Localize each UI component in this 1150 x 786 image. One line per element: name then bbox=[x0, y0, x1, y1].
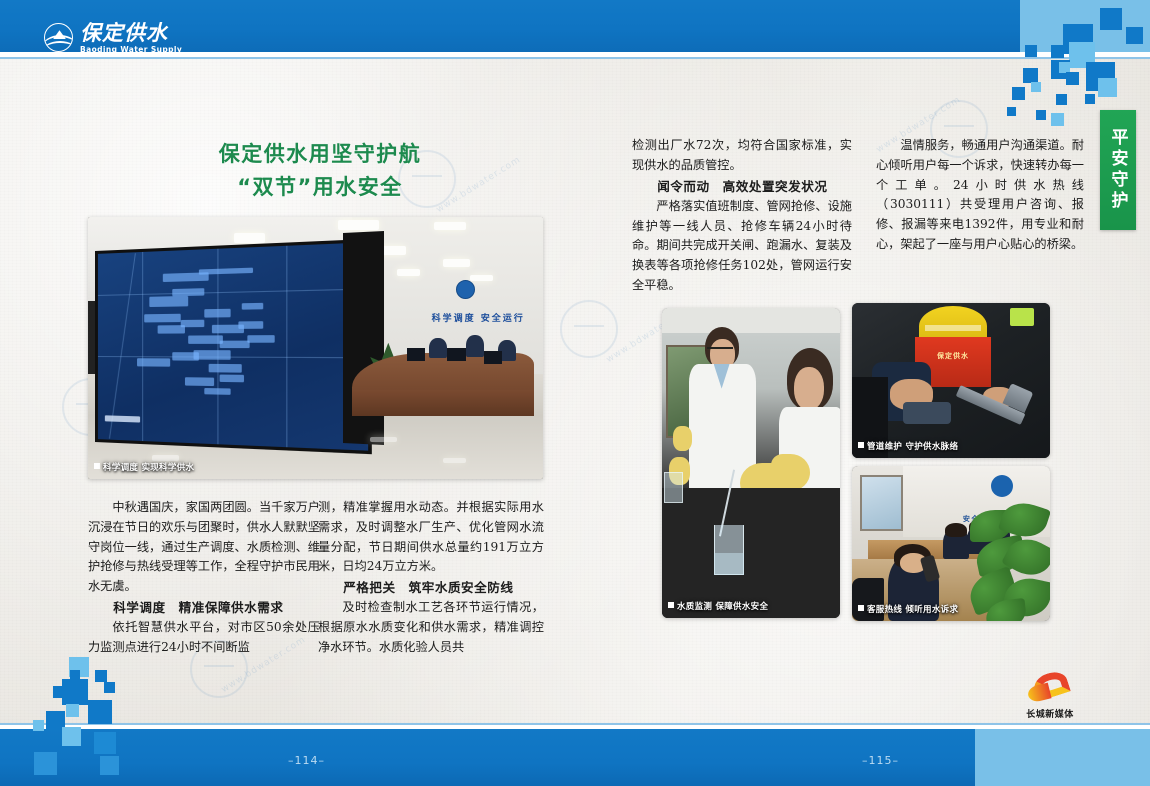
article-title: 保定供水用坚守护航 “双节”用水安全 bbox=[85, 138, 555, 203]
body-column-4: 温情服务，畅通用户沟通渠道。耐心倾听用户每一个诉求，快速转办每一个工单。24小时… bbox=[876, 136, 1084, 255]
decor-square bbox=[104, 682, 115, 693]
brand-name-en: Baoding Water Supply bbox=[80, 46, 182, 54]
footer-band-accent bbox=[975, 729, 1150, 786]
decor-square bbox=[1126, 27, 1143, 44]
paragraph: 测，精准掌握用水动态。并根据实际用水需求，及时调整水厂生产、优化管网水流量分配，… bbox=[318, 498, 544, 577]
paragraph: 严格落实值班制度、管网抢修、设施维护等一线人员、抢修车辆24小时待命。期间共完成… bbox=[632, 197, 852, 296]
decor-square bbox=[100, 756, 119, 775]
media-partner-name: 长城新媒体 bbox=[1026, 707, 1074, 720]
decor-square bbox=[1051, 45, 1064, 58]
decor-square bbox=[70, 670, 80, 680]
decor-square bbox=[66, 704, 79, 717]
decor-square bbox=[1066, 72, 1079, 85]
article-title-line1: 保定供水用坚守护航 bbox=[85, 138, 555, 171]
paragraph: 中秋遇国庆，家国两团圆。当千家万户沉浸在节日的欢乐与团聚时，供水人默默坚守岗位一… bbox=[88, 498, 320, 597]
decor-square bbox=[1051, 113, 1064, 126]
decor-square bbox=[1007, 107, 1016, 116]
photo-control-room: 科学调度 安全运行 科学调度 实现科学供水 bbox=[88, 217, 543, 479]
decor-square bbox=[1031, 82, 1041, 92]
decor-square bbox=[88, 700, 112, 724]
decor-square bbox=[95, 670, 107, 682]
photo-wall-text: 科学调度 安全运行 bbox=[432, 311, 525, 324]
decor-square bbox=[1023, 68, 1038, 83]
body-column-1: 中秋遇国庆，家国两团圆。当千家万户沉浸在节日的欢乐与团聚时，供水人默默坚守岗位一… bbox=[88, 498, 320, 658]
decor-square bbox=[1098, 78, 1117, 97]
footer-rule bbox=[0, 725, 1150, 729]
photo-water-quality-lab: 水质监测 保障供水安全 bbox=[662, 308, 840, 618]
footer-rule-secondary bbox=[0, 723, 1150, 725]
great-wall-swirl-icon bbox=[1024, 671, 1076, 705]
photo-pipe-maintenance: 保定供水 管道维护 守护供水脉络 bbox=[852, 303, 1050, 458]
decor-square bbox=[1100, 8, 1122, 30]
paragraph: 及时检查制水工艺各环节运行情况，根据原水水质变化和供水需求，精准调控净水环节。水… bbox=[318, 598, 544, 657]
paragraph: 依托智慧供水平台，对市区50余处压力监测点进行24小时不间断监 bbox=[88, 618, 320, 658]
article-title-line2: “双节”用水安全 bbox=[85, 171, 555, 204]
page-number-left: –114– bbox=[288, 754, 325, 767]
decor-square bbox=[53, 686, 65, 698]
decor-square bbox=[1036, 110, 1046, 120]
decor-square bbox=[1012, 87, 1025, 100]
vest-text: 保定供水 bbox=[919, 351, 986, 361]
decor-square bbox=[94, 732, 116, 754]
plant-decoration bbox=[967, 503, 1050, 621]
decor-square bbox=[62, 679, 88, 705]
subheading: 闻令而动 高效处置突发状况 bbox=[632, 177, 852, 197]
decor-square bbox=[1085, 94, 1095, 104]
photo-caption: 客服热线 倾听用水诉求 bbox=[858, 603, 958, 615]
photo-caption: 科学调度 实现科学供水 bbox=[94, 461, 194, 473]
decor-square bbox=[1025, 45, 1037, 57]
photo-caption: 管道维护 守护供水脉络 bbox=[858, 440, 958, 452]
body-column-2: 测，精准掌握用水动态。并根据实际用水需求，及时调整水厂生产、优化管网水流量分配，… bbox=[318, 498, 544, 658]
magazine-spread: www.bdwater.com www.bdwater.com www.bdwa… bbox=[0, 0, 1150, 786]
photo-customer-hotline: 安全供水 客服热线 倾听用水诉求 bbox=[852, 466, 1050, 621]
header-rule-secondary bbox=[0, 57, 1150, 59]
decor-square bbox=[1056, 94, 1067, 105]
brand-logo: 保定供水 Baoding Water Supply bbox=[44, 22, 182, 54]
water-drop-icon bbox=[44, 23, 73, 52]
company-emblem-icon bbox=[991, 475, 1013, 497]
decor-square bbox=[34, 752, 57, 775]
brand-name-cn: 保定供水 bbox=[80, 22, 182, 43]
section-tab-label: 平安守护 bbox=[1106, 128, 1131, 212]
paragraph: 检测出厂水72次，均符合国家标准，实现供水的品质管控。 bbox=[632, 136, 852, 176]
subheading: 科学调度 精准保障供水需求 bbox=[88, 598, 320, 618]
decor-square bbox=[62, 727, 81, 746]
page-number-right: –115– bbox=[862, 754, 899, 767]
video-wall bbox=[95, 239, 372, 455]
section-tab[interactable]: 平安守护 bbox=[1100, 110, 1136, 230]
paragraph: 温情服务，畅通用户沟通渠道。耐心倾听用户每一个诉求，快速转办每一个工单。24小时… bbox=[876, 136, 1084, 255]
body-column-3: 检测出厂水72次，均符合国家标准，实现供水的品质管控。 闻令而动 高效处置突发状… bbox=[632, 136, 852, 296]
subheading: 严格把关 筑牢水质安全防线 bbox=[318, 578, 544, 598]
decor-square bbox=[33, 720, 44, 731]
media-partner-logo: 长城新媒体 bbox=[1005, 660, 1095, 720]
photo-caption: 水质监测 保障供水安全 bbox=[668, 600, 768, 612]
